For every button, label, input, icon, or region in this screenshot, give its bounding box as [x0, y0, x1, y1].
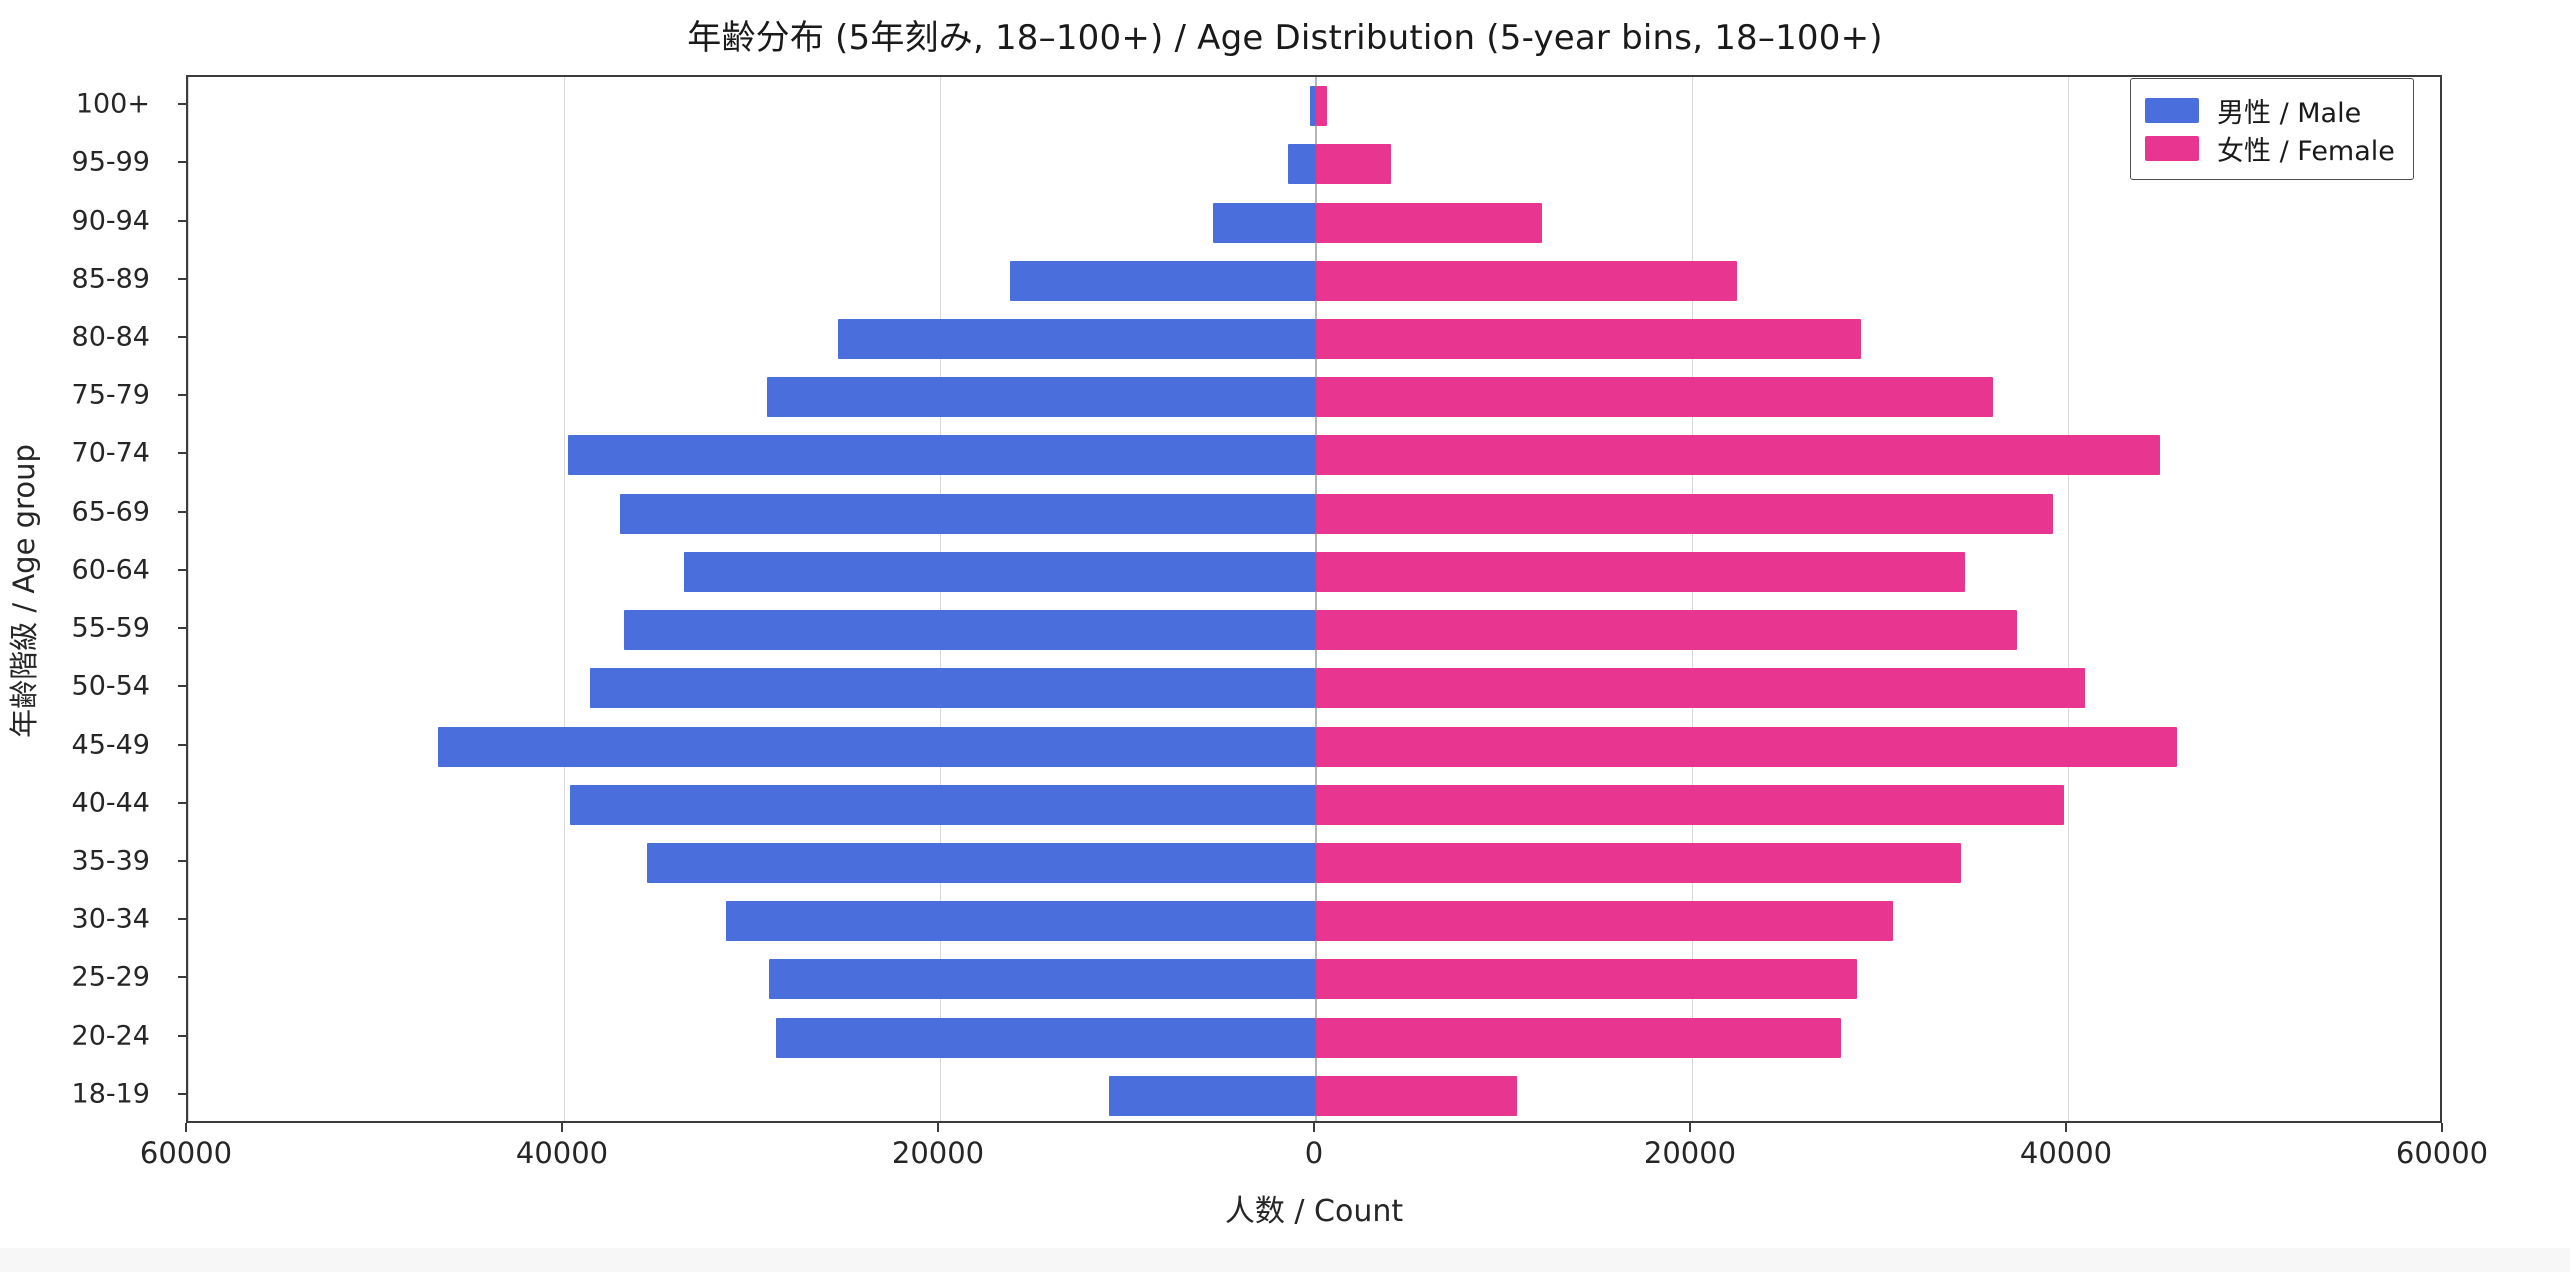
- legend-item-female[interactable]: 女性 / Female: [2145, 129, 2395, 167]
- bar-male-50-54: [590, 668, 1316, 708]
- y-tick-label-85-89: 85-89: [72, 263, 150, 294]
- y-tick-mark: [178, 627, 187, 629]
- x-tick-label-5: 40000: [2020, 1136, 2112, 1170]
- y-tick-mark: [178, 161, 187, 163]
- bar-female-30-34: [1316, 901, 1893, 941]
- bar-male-20-24: [776, 1018, 1316, 1058]
- x-tick-mark: [185, 1123, 187, 1132]
- y-tick-label-75-79: 75-79: [72, 380, 150, 411]
- y-tick-label-60-64: 60-64: [72, 554, 150, 585]
- bar-female-85-89: [1316, 261, 1737, 301]
- y-tick-label-40-44: 40-44: [72, 787, 150, 818]
- bar-male-70-74: [568, 435, 1316, 475]
- x-tick-mark: [561, 1123, 563, 1132]
- y-tick-mark: [178, 569, 187, 571]
- bar-male-95-99: [1288, 144, 1316, 184]
- y-tick-label-30-34: 30-34: [72, 904, 150, 935]
- x-tick-label-0: 60000: [140, 1136, 232, 1170]
- bar-male-75-79: [767, 377, 1316, 417]
- legend-swatch-icon: [2145, 136, 2199, 161]
- y-tick-mark: [178, 860, 187, 862]
- x-tick-label-2: 20000: [892, 1136, 984, 1170]
- bar-female-80-84: [1316, 319, 1861, 359]
- x-tick-mark: [2065, 1123, 2067, 1132]
- legend-item-male[interactable]: 男性 / Male: [2145, 91, 2395, 129]
- bar-female-90-94: [1316, 203, 1542, 243]
- bar-male-30-34: [726, 901, 1316, 941]
- legend-label: 男性 / Male: [2217, 91, 2361, 130]
- y-tick-label-65-69: 65-69: [72, 496, 150, 527]
- figure-canvas: 年齢分布 (5年刻み, 18–100+) / Age Distribution …: [0, 0, 2570, 1272]
- bar-male-18-19: [1109, 1076, 1316, 1116]
- figure-bottom-band: [0, 1248, 2570, 1272]
- bar-male-85-89: [1010, 261, 1316, 301]
- y-tick-mark: [178, 452, 187, 454]
- y-tick-mark: [178, 511, 187, 513]
- y-tick-label-35-39: 35-39: [72, 846, 150, 877]
- bar-female-50-54: [1316, 668, 2085, 708]
- x-tick-mark: [937, 1123, 939, 1132]
- y-tick-mark: [178, 744, 187, 746]
- bar-female-100+: [1316, 86, 1327, 126]
- bar-male-25-29: [769, 959, 1316, 999]
- bar-female-70-74: [1316, 435, 2160, 475]
- bar-female-25-29: [1316, 959, 1857, 999]
- bar-female-35-39: [1316, 843, 1961, 883]
- y-tick-mark: [178, 394, 187, 396]
- y-tick-mark: [178, 278, 187, 280]
- y-tick-label-45-49: 45-49: [72, 729, 150, 760]
- y-tick-mark: [178, 336, 187, 338]
- y-tick-mark: [178, 918, 187, 920]
- bar-female-60-64: [1316, 552, 1965, 592]
- bar-female-75-79: [1316, 377, 1993, 417]
- chart-title: 年齢分布 (5年刻み, 18–100+) / Age Distribution …: [0, 10, 2570, 59]
- y-tick-label-20-24: 20-24: [72, 1020, 150, 1051]
- x-tick-label-4: 20000: [1644, 1136, 1736, 1170]
- y-tick-mark: [178, 103, 187, 105]
- gridline: [564, 77, 565, 1121]
- y-tick-label-25-29: 25-29: [72, 962, 150, 993]
- y-tick-label-70-74: 70-74: [72, 438, 150, 469]
- y-tick-label-18-19: 18-19: [72, 1078, 150, 1109]
- x-tick-mark: [1689, 1123, 1691, 1132]
- y-tick-mark: [178, 220, 187, 222]
- bar-male-35-39: [647, 843, 1316, 883]
- y-tick-mark: [178, 685, 187, 687]
- bar-male-40-44: [570, 785, 1316, 825]
- y-tick-label-100+: 100+: [76, 89, 150, 120]
- bar-male-60-64: [684, 552, 1316, 592]
- bar-female-95-99: [1316, 144, 1391, 184]
- bar-female-18-19: [1316, 1076, 1517, 1116]
- bar-female-45-49: [1316, 727, 2177, 767]
- x-tick-label-6: 60000: [2396, 1136, 2488, 1170]
- x-tick-mark: [1313, 1123, 1315, 1132]
- bar-male-90-94: [1213, 203, 1316, 243]
- y-tick-label-50-54: 50-54: [72, 671, 150, 702]
- y-tick-label-80-84: 80-84: [72, 322, 150, 353]
- legend: 男性 / Male女性 / Female: [2130, 78, 2414, 180]
- bar-female-20-24: [1316, 1018, 1841, 1058]
- y-tick-label-55-59: 55-59: [72, 613, 150, 644]
- x-axis-title: 人数 / Count: [186, 1186, 2442, 1230]
- gridline: [2068, 77, 2069, 1121]
- bar-male-45-49: [438, 727, 1316, 767]
- y-tick-label-90-94: 90-94: [72, 205, 150, 236]
- bar-female-55-59: [1316, 610, 2017, 650]
- gridline: [188, 77, 189, 1121]
- y-tick-mark: [178, 976, 187, 978]
- y-tick-mark: [178, 802, 187, 804]
- legend-label: 女性 / Female: [2217, 129, 2395, 168]
- y-tick-label-95-99: 95-99: [72, 147, 150, 178]
- plot-area: [186, 75, 2442, 1123]
- x-tick-label-1: 40000: [516, 1136, 608, 1170]
- y-tick-mark: [178, 1035, 187, 1037]
- y-axis-title: 年齢階級 / Age group: [1, 141, 43, 1041]
- y-tick-mark: [178, 1093, 187, 1095]
- x-tick-mark: [2441, 1123, 2443, 1132]
- bar-female-40-44: [1316, 785, 2064, 825]
- bar-male-65-69: [620, 494, 1316, 534]
- bar-male-55-59: [624, 610, 1316, 650]
- x-tick-label-3: 0: [1305, 1136, 1323, 1170]
- bar-male-80-84: [838, 319, 1316, 359]
- legend-swatch-icon: [2145, 98, 2199, 123]
- bar-female-65-69: [1316, 494, 2053, 534]
